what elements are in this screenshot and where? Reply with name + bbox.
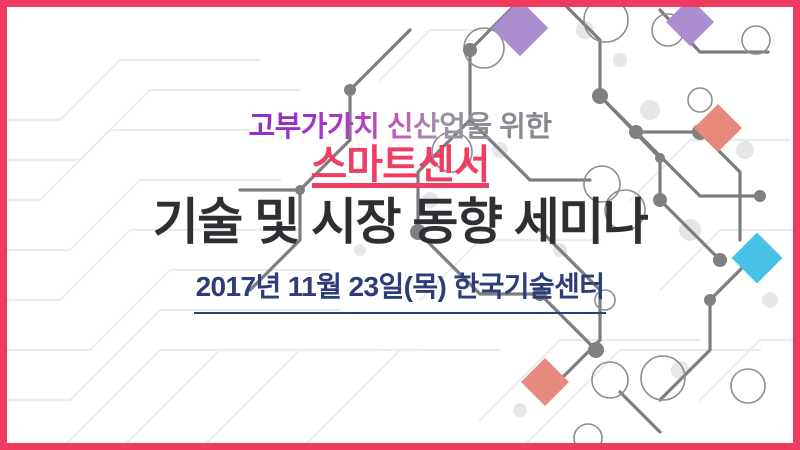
date-underline-rule (194, 312, 606, 314)
circuit-node-dot (736, 141, 754, 159)
circuit-ring-icon (464, 28, 504, 68)
circuit-trace (0, 230, 300, 300)
poster-date-venue: 2017년 11월 23일(목) 한국기술센터 (196, 272, 605, 303)
circuit-trace (120, 350, 380, 450)
circuit-trace (0, 90, 300, 160)
circuit-ring-icons (432, 0, 770, 450)
circuit-trace (0, 60, 260, 120)
circuit-node-dot (463, 43, 477, 57)
circuit-node-dot (653, 193, 667, 207)
light-circuit-traces (0, 30, 800, 450)
poster-border-frame (0, 0, 800, 450)
circuit-trace (480, 340, 700, 420)
circuit-diamond-accents (492, 0, 783, 406)
circuit-ring-icon (641, 356, 685, 400)
circuit-node-dot (679, 219, 701, 241)
circuit-ring-icon (584, 0, 628, 42)
circuit-node-dot (692, 124, 708, 140)
circuit-trace (240, 30, 410, 190)
circuit-node-dot (553, 0, 567, 7)
circuit-trace (470, 120, 590, 180)
circuit-node-dot (354, 244, 366, 256)
circuit-ring-icon (584, 166, 620, 202)
circuit-node-dot (533, 287, 547, 301)
circuit-ring-icon (605, 190, 645, 230)
circuit-trace (520, 350, 760, 450)
circuit-diamond-accent (666, 0, 714, 46)
circuit-ring-icon (592, 362, 628, 398)
circuit-node-dot (671, 361, 689, 379)
circuit-trace (60, 350, 320, 450)
circuit-node-dot (613, 53, 627, 67)
circuit-trace (418, 0, 520, 232)
circuit-trace (630, 140, 790, 200)
circuit-trace (660, 250, 760, 400)
circuit-node-dot (704, 294, 716, 306)
circuit-diamond-accent (732, 233, 783, 284)
circuit-ring-icon (574, 424, 602, 450)
circuit-node-dot (640, 100, 660, 120)
circuit-node-dot (754, 190, 766, 202)
circuit-node-dot (629, 125, 643, 139)
circuit-node-dot (492, 142, 508, 158)
circuit-trace (250, 190, 300, 290)
circuit-ring-icon (595, 290, 615, 310)
circuit-trace (560, 0, 700, 132)
circuit-node-dot (344, 84, 356, 96)
dark-circuit-nodes (295, 0, 766, 398)
circuit-trace (0, 310, 340, 400)
circuit-trace (700, 132, 740, 240)
circuit-trace (700, 340, 800, 400)
circuit-trace (660, 230, 800, 290)
poster-title: 기술 및 시장 동향 세미나 (0, 194, 800, 250)
poster-tagline: 고부가가치 신산업을 위한 (248, 112, 551, 143)
circuit-trace (600, 96, 720, 260)
circuit-diamond-accent (694, 104, 742, 152)
poster-headline: 스마트센서 (311, 145, 490, 188)
circuit-node-dot (592, 88, 608, 104)
seminar-poster: 고부가가치 신산업을 위한 스마트센서 기술 및 시장 동향 세미나 2017년… (0, 0, 800, 450)
circuit-node-dot (410, 224, 426, 240)
circuit-trace (636, 132, 760, 196)
circuit-trace (418, 232, 596, 350)
circuit-node-dot (422, 192, 438, 208)
circuit-trace (620, 392, 660, 432)
circuit-node-dot (553, 243, 567, 257)
date-venue-row: 2017년 11월 23일(목) 한국기술센터 (0, 272, 800, 314)
light-circuit-nodes (354, 21, 778, 417)
circuit-node-dot (762, 292, 778, 308)
tagline-row: 고부가가치 신산업을 위한 (0, 112, 800, 145)
circuit-pattern-background (0, 0, 800, 450)
circuit-node-dot (295, 185, 305, 195)
circuit-ring-icon (731, 369, 765, 403)
circuit-trace (540, 230, 600, 380)
circuit-trace (300, 350, 500, 450)
circuit-trace (0, 270, 330, 350)
circuit-trace (380, 30, 540, 80)
circuit-trace (200, 350, 420, 450)
circuit-trace (660, 10, 768, 52)
circuit-ring-icon (652, 14, 684, 46)
circuit-ring-icon (688, 88, 712, 112)
circuit-node-dot (713, 253, 727, 267)
circuit-node-dot (655, 153, 665, 163)
circuit-diamond-accent (492, 0, 549, 56)
circuit-ring-icon (742, 26, 770, 54)
circuit-trace (0, 180, 280, 250)
circuit-diamond-accent (521, 358, 569, 406)
circuit-trace (420, 240, 600, 300)
poster-text-block: 고부가가치 신산업을 위한 스마트센서 기술 및 시장 동향 세미나 2017년… (0, 112, 800, 314)
dark-circuit-traces (240, 0, 768, 432)
circuit-node-dot (534, 386, 546, 398)
circuit-node-dot (588, 342, 604, 358)
circuit-ring-icon (432, 132, 472, 172)
circuit-trace (0, 130, 250, 200)
circuit-node-dot (576, 21, 594, 39)
headline-row: 스마트센서 (0, 145, 800, 188)
circuit-node-dot (513, 403, 527, 417)
